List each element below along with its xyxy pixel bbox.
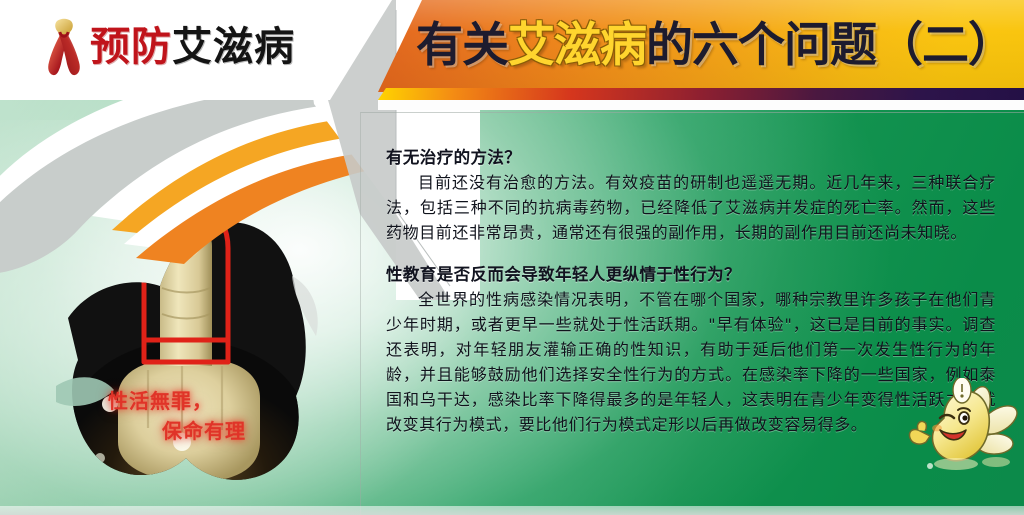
headline-part-3: 的六个问题 — [646, 18, 876, 73]
logo-text: 预防艾滋病 — [90, 27, 295, 67]
logo-text-red: 预防 — [90, 24, 172, 70]
headline-underline — [378, 88, 1024, 100]
question-body-1: 目前还没有治愈的方法。有效疫苗的研制也遥遥无期。近几年来，三种联合疗法，包括三种… — [386, 170, 996, 245]
headline-under-white-strip — [378, 100, 1024, 110]
question-heading-2: 性教育是否反而会导致年轻人更纵情于性行为？ — [386, 261, 996, 285]
headline-part-1: 有关 — [416, 18, 508, 73]
poster-canvas: 性活無罪， 保命有理 — [0, 0, 1024, 515]
logo-text-black: 艾滋病 — [172, 24, 295, 70]
brand-logo: 预防艾滋病 — [44, 18, 295, 76]
headline-part-2: 艾滋病 — [508, 18, 646, 73]
headline-part-4: （二） — [876, 18, 1014, 73]
question-heading-1: 有无治疗的方法？ — [386, 144, 996, 168]
bottom-edge-strip — [0, 506, 1024, 515]
aids-awareness-ribbon-icon — [44, 18, 84, 76]
article-content: 有无治疗的方法？ 目前还没有治愈的方法。有效疫苗的研制也遥遥无期。近几年来，三种… — [386, 144, 996, 437]
headline-title: 有关艾滋病的六个问题（二） — [416, 14, 1016, 78]
question-body-2: 全世界的性病感染情况表明，不管在哪个国家，哪种宗教里许多孩子在他们青少年时期，或… — [386, 287, 996, 437]
article-panel: 有无治疗的方法？ 目前还没有治愈的方法。有效疫苗的研制也遥遥无期。近几年来，三种… — [360, 112, 1024, 515]
